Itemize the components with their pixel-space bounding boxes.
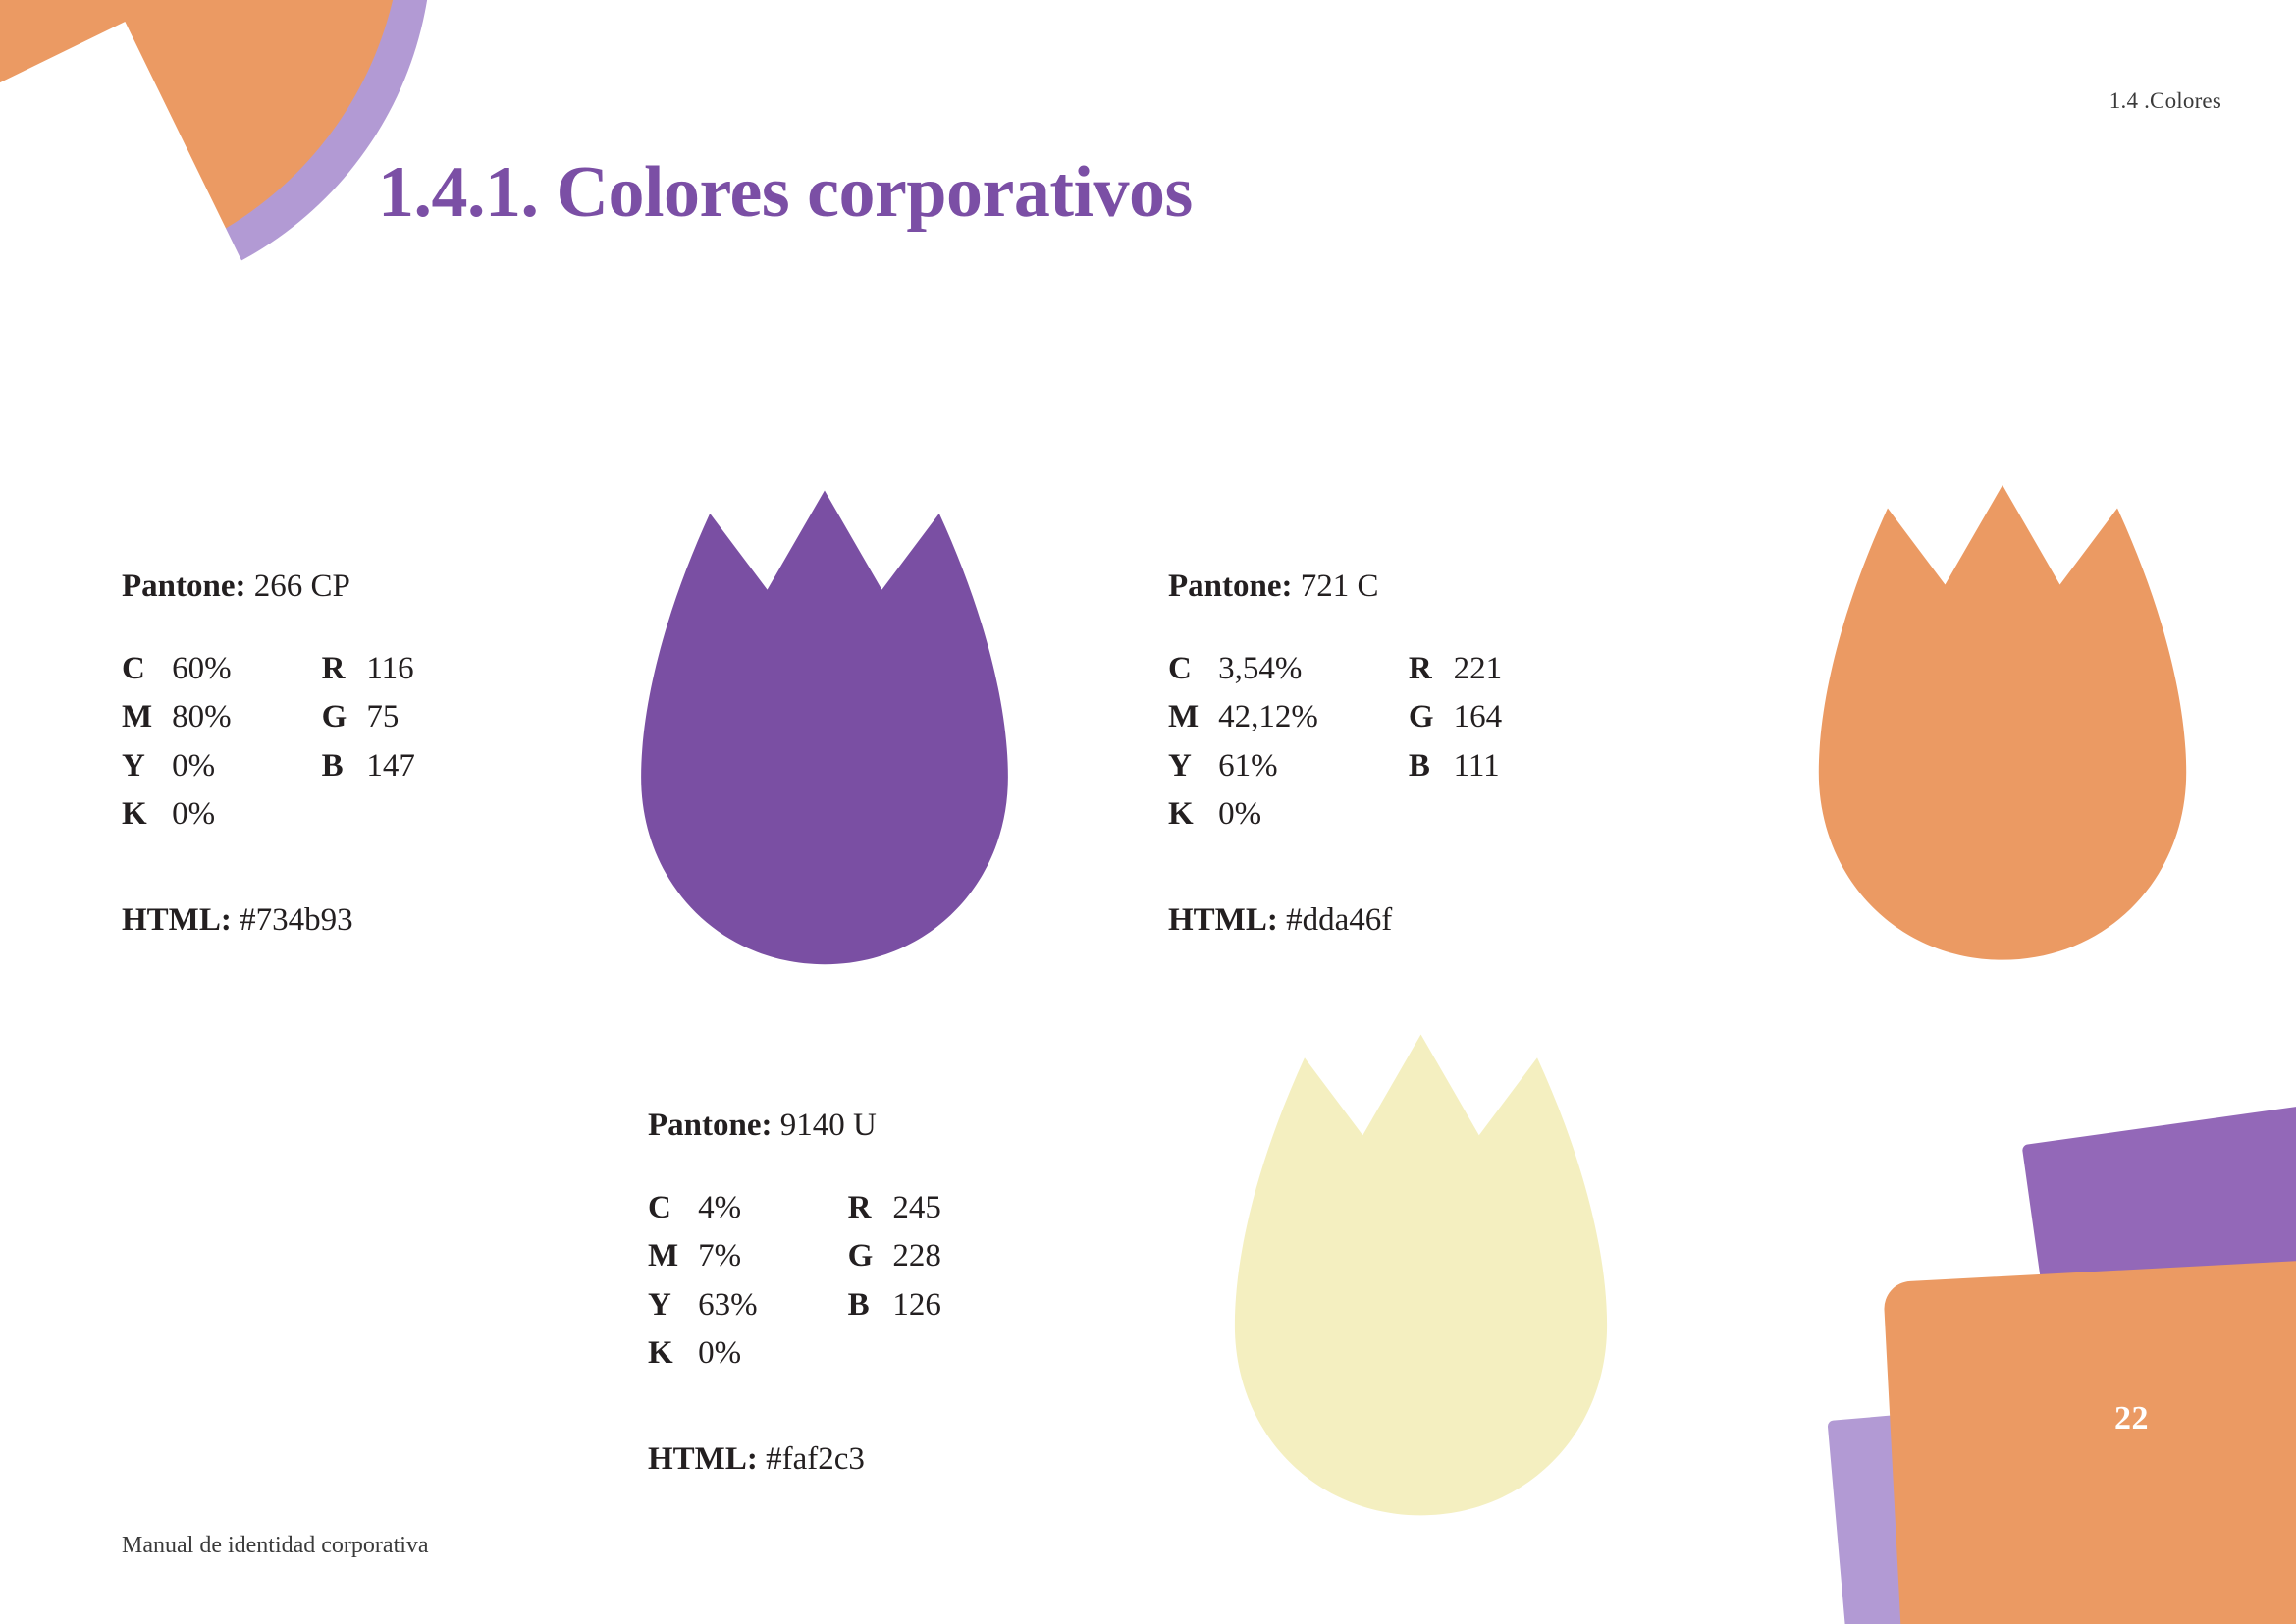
cmyk-value-c: 4% xyxy=(698,1187,848,1236)
spacer-cell xyxy=(1409,793,1454,842)
pantone-value: 266 CP xyxy=(254,568,350,604)
html-label: HTML: xyxy=(122,902,232,938)
tulip-icon xyxy=(1235,1035,1607,1516)
rgb-key-g: G xyxy=(848,1235,893,1284)
page-title: 1.4.1. Colores corporativos xyxy=(378,151,1193,235)
rgb-value-b: 147 xyxy=(366,745,415,794)
html-value: #734b93 xyxy=(240,902,353,938)
running-header: 1.4 .Colores xyxy=(2109,88,2221,114)
cmyk-key-k: K xyxy=(1168,793,1218,842)
manual-page: 1.4 .Colores 1.4.1. Colores corporativos… xyxy=(0,0,2296,1624)
rgb-value-b: 111 xyxy=(1454,745,1503,794)
table-row: Y 0% B 147 xyxy=(122,745,415,794)
color-spec-purple: Pantone: 266 CP C 60% R 116 M 80% G 75 Y… xyxy=(122,566,415,942)
color-values-table: C 3,54% R 221 M 42,12% G 164 Y 61% B 111… xyxy=(1168,648,1502,842)
cmyk-value-y: 63% xyxy=(698,1284,848,1333)
pantone-label: Pantone: xyxy=(122,568,246,604)
corner-square-light-purple xyxy=(1827,1396,2136,1624)
spacer-cell xyxy=(1454,793,1503,842)
cmyk-key-c: C xyxy=(648,1187,698,1236)
rgb-value-g: 164 xyxy=(1454,696,1503,745)
color-spec-orange: Pantone: 721 C C 3,54% R 221 M 42,12% G … xyxy=(1168,566,1502,942)
color-values-table: C 4% R 245 M 7% G 228 Y 63% B 126 K 0% xyxy=(648,1187,941,1381)
spacer-cell xyxy=(322,793,367,842)
html-line: HTML: #dda46f xyxy=(1168,899,1502,943)
table-row: K 0% xyxy=(648,1332,941,1381)
pantone-line: Pantone: 266 CP xyxy=(122,566,415,609)
rgb-key-r: R xyxy=(1409,648,1454,697)
corner-circle-orange xyxy=(0,0,402,280)
cmyk-value-c: 60% xyxy=(172,648,322,697)
cmyk-key-m: M xyxy=(1168,696,1218,745)
cmyk-key-y: Y xyxy=(1168,745,1218,794)
html-label: HTML: xyxy=(1168,902,1278,938)
cmyk-key-m: M xyxy=(648,1235,698,1284)
rgb-value-b: 126 xyxy=(892,1284,941,1333)
table-row: C 3,54% R 221 xyxy=(1168,648,1502,697)
cmyk-value-c: 3,54% xyxy=(1218,648,1409,697)
corner-arc-inner-cut xyxy=(0,0,365,238)
rgb-key-r: R xyxy=(848,1187,893,1236)
cmyk-key-c: C xyxy=(122,648,172,697)
rgb-value-r: 245 xyxy=(892,1187,941,1236)
table-row: M 42,12% G 164 xyxy=(1168,696,1502,745)
table-row: M 7% G 228 xyxy=(648,1235,941,1284)
rgb-value-r: 116 xyxy=(366,648,415,697)
cmyk-value-k: 0% xyxy=(698,1332,848,1381)
cmyk-value-m: 80% xyxy=(172,696,322,745)
html-value: #dda46f xyxy=(1286,902,1392,938)
html-label: HTML: xyxy=(648,1441,758,1477)
rgb-value-r: 221 xyxy=(1454,648,1503,697)
table-row: K 0% xyxy=(1168,793,1502,842)
tulip-icon xyxy=(1819,485,2186,960)
html-line: HTML: #faf2c3 xyxy=(648,1438,941,1482)
cmyk-value-y: 61% xyxy=(1218,745,1409,794)
tulip-icon xyxy=(641,490,1008,964)
cmyk-value-k: 0% xyxy=(172,793,322,842)
cmyk-key-y: Y xyxy=(122,745,172,794)
cmyk-value-m: 7% xyxy=(698,1235,848,1284)
pantone-line: Pantone: 721 C xyxy=(1168,566,1502,609)
rgb-value-g: 75 xyxy=(366,696,415,745)
html-value: #faf2c3 xyxy=(766,1441,865,1477)
rgb-key-b: B xyxy=(322,745,367,794)
table-row: K 0% xyxy=(122,793,415,842)
color-values-table: C 60% R 116 M 80% G 75 Y 0% B 147 K 0% xyxy=(122,648,415,842)
pantone-value: 721 C xyxy=(1301,568,1379,604)
table-row: C 4% R 245 xyxy=(648,1187,941,1236)
corner-arc-light-purple xyxy=(0,0,432,304)
table-row: Y 61% B 111 xyxy=(1168,745,1502,794)
corner-mask xyxy=(0,22,254,511)
corner-square-dark-purple xyxy=(2022,1105,2296,1437)
footer-note: Manual de identidad corporativa xyxy=(122,1533,429,1559)
rgb-value-g: 228 xyxy=(892,1235,941,1284)
cmyk-key-y: Y xyxy=(648,1284,698,1333)
corner-square-orange xyxy=(1883,1259,2296,1624)
rgb-key-b: B xyxy=(848,1284,893,1333)
spacer-cell xyxy=(892,1332,941,1381)
pantone-label: Pantone: xyxy=(1168,568,1293,604)
table-row: Y 63% B 126 xyxy=(648,1284,941,1333)
cmyk-value-k: 0% xyxy=(1218,793,1409,842)
color-spec-cream: Pantone: 9140 U C 4% R 245 M 7% G 228 Y … xyxy=(648,1105,941,1481)
pantone-label: Pantone: xyxy=(648,1108,773,1143)
cmyk-key-k: K xyxy=(122,793,172,842)
tulip-swatch-cream xyxy=(1227,1001,1615,1537)
html-line: HTML: #734b93 xyxy=(122,899,415,943)
tulip-swatch-orange xyxy=(1811,461,2194,972)
cmyk-key-k: K xyxy=(648,1332,698,1381)
rgb-key-g: G xyxy=(322,696,367,745)
cmyk-key-c: C xyxy=(1168,648,1218,697)
pantone-line: Pantone: 9140 U xyxy=(648,1105,941,1148)
cmyk-value-y: 0% xyxy=(172,745,322,794)
cmyk-key-m: M xyxy=(122,696,172,745)
spacer-cell xyxy=(848,1332,893,1381)
table-row: M 80% G 75 xyxy=(122,696,415,745)
spacer-cell xyxy=(366,793,415,842)
cmyk-value-m: 42,12% xyxy=(1218,696,1409,745)
pantone-value: 9140 U xyxy=(780,1108,877,1143)
table-row: C 60% R 116 xyxy=(122,648,415,697)
page-number: 22 xyxy=(2114,1400,2149,1437)
rgb-key-b: B xyxy=(1409,745,1454,794)
rgb-key-g: G xyxy=(1409,696,1454,745)
rgb-key-r: R xyxy=(322,648,367,697)
tulip-swatch-purple xyxy=(633,471,1016,972)
